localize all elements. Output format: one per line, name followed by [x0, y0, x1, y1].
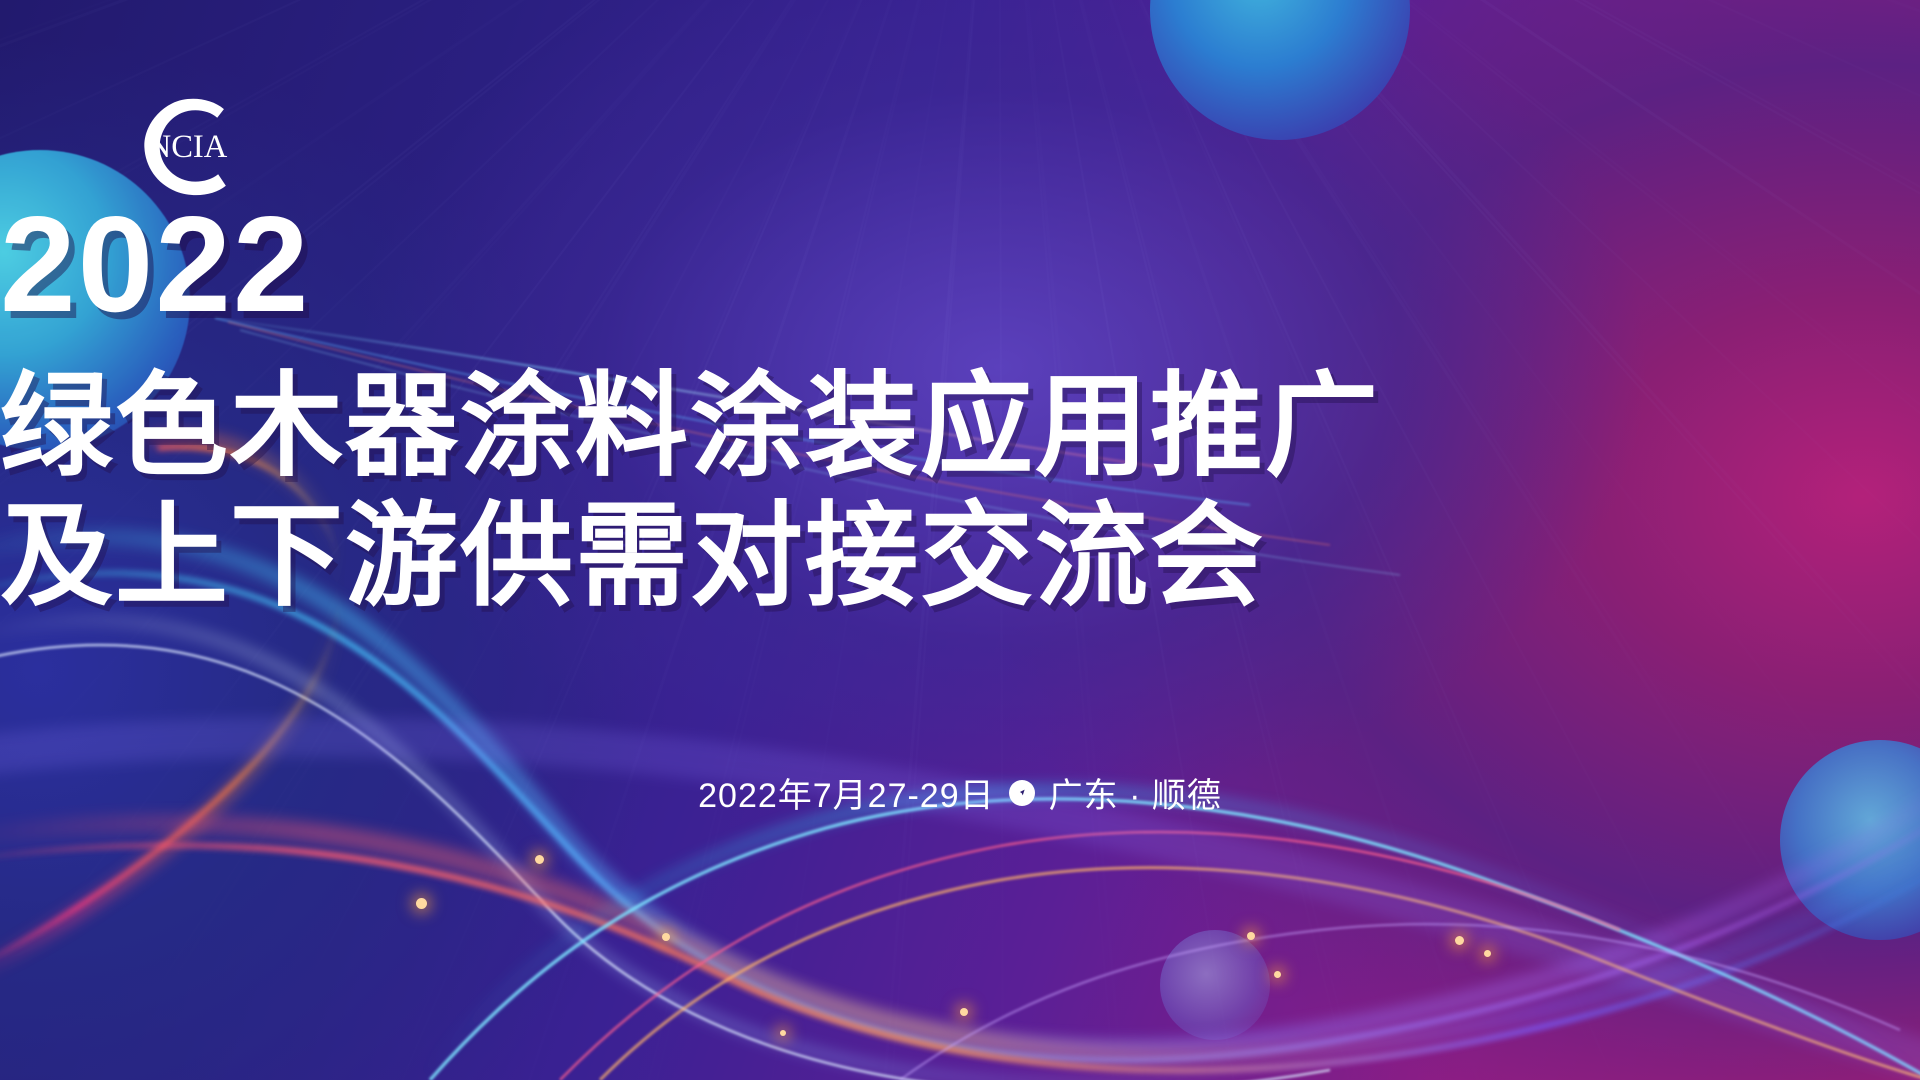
- event-location: 广东 · 顺德: [1049, 768, 1222, 817]
- poster-year: 2022: [0, 196, 1920, 332]
- location-pin-icon: [1009, 780, 1035, 806]
- decorative-circle-bottom-center: [1160, 930, 1270, 1040]
- poster-meta: 2022年7月27-29日 广东 · 顺德: [0, 768, 1920, 817]
- event-poster: NCIA 2022 绿色木器涂料涂装应用推广 及上下游供需对接交流会 2022年…: [0, 0, 1920, 1080]
- logo-text: NCIA: [148, 129, 228, 165]
- ncia-logo[interactable]: NCIA: [130, 88, 245, 203]
- poster-title-line-1: 绿色木器涂料涂装应用推广: [0, 370, 1920, 483]
- poster-title-line-2: 及上下游供需对接交流会: [0, 500, 1920, 613]
- decorative-circle-top-right: [1150, 0, 1410, 140]
- event-date: 2022年7月27-29日: [698, 768, 995, 817]
